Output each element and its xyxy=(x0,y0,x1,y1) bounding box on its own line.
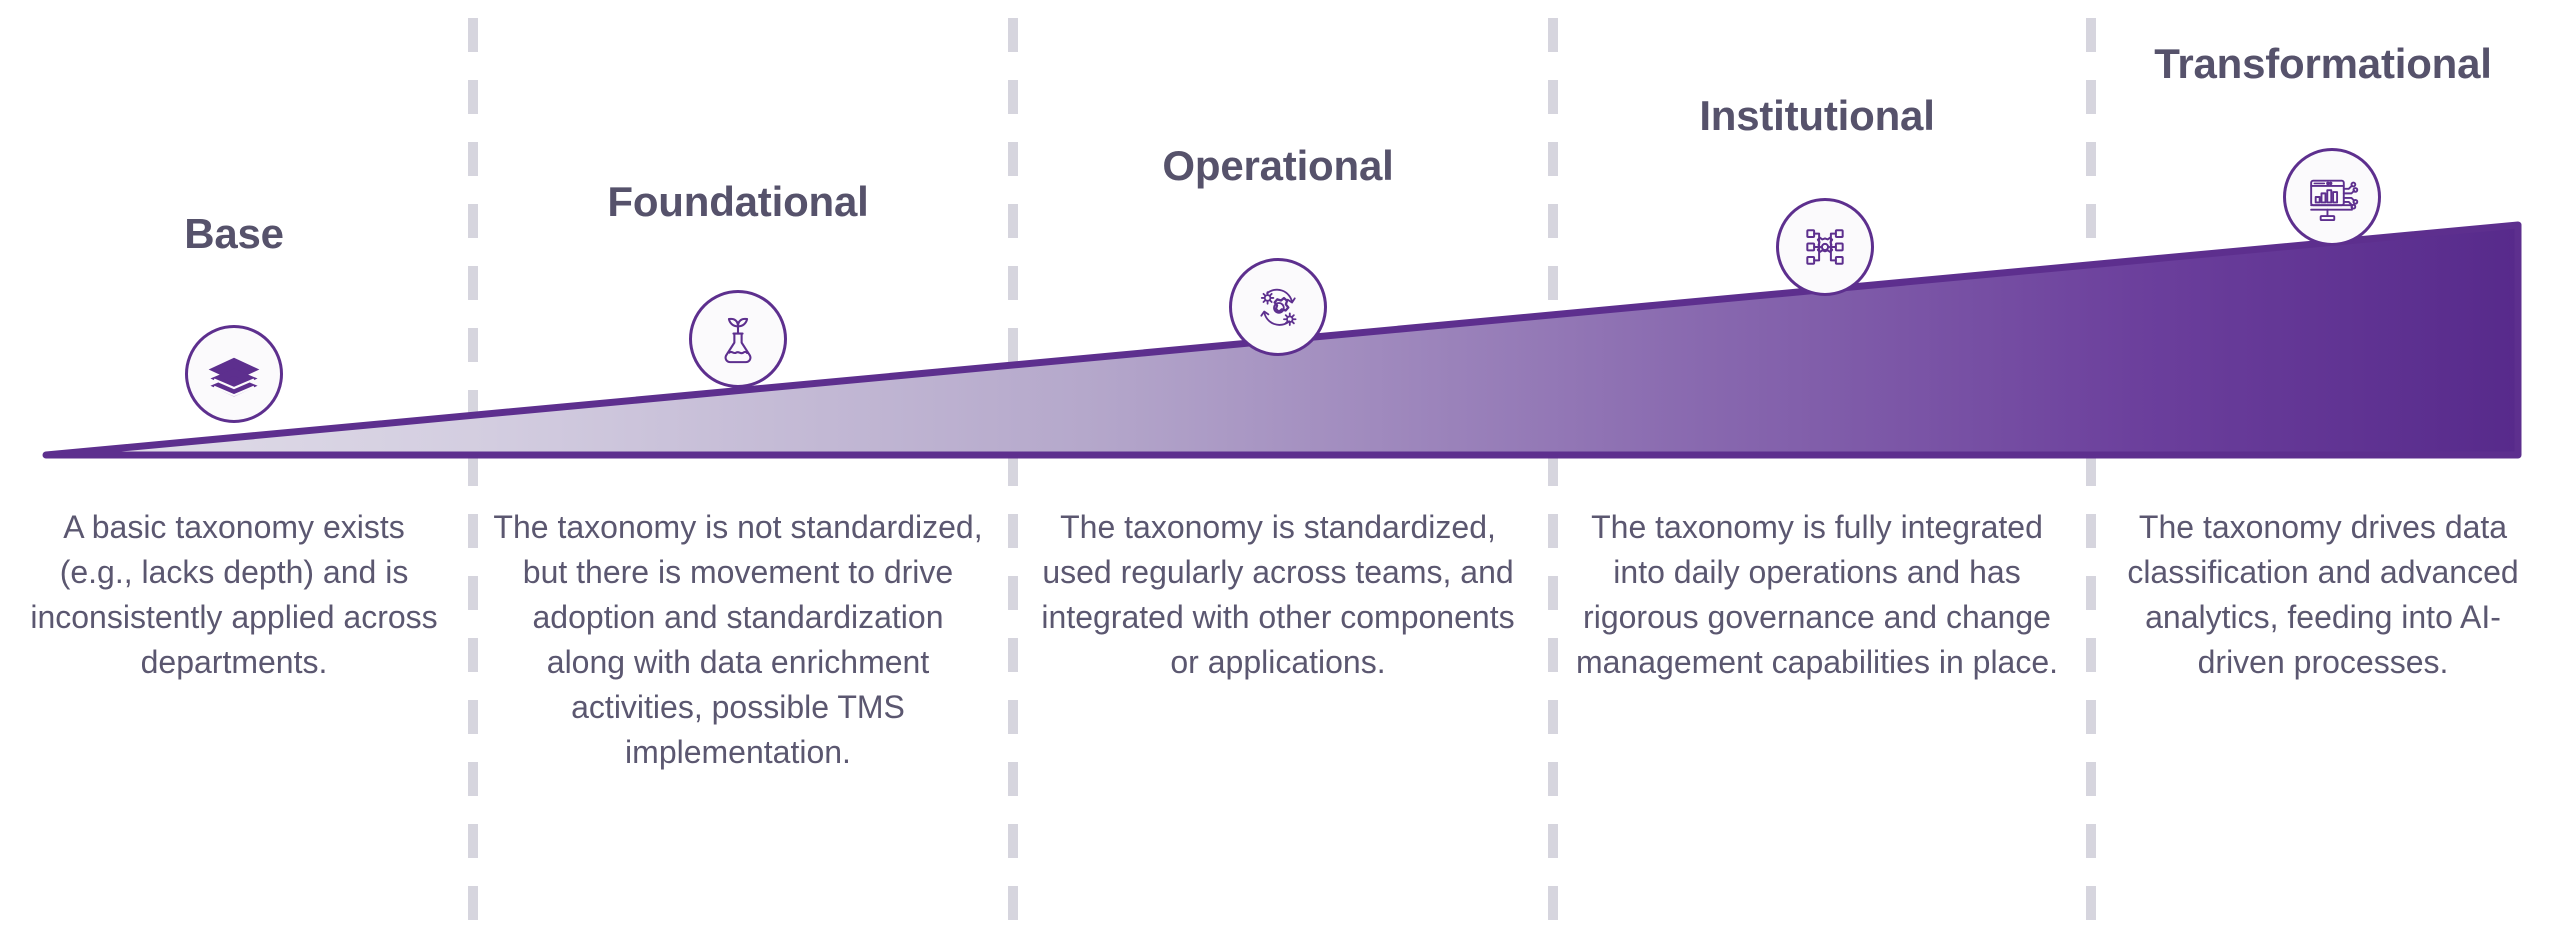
analytics-monitor-ai-icon xyxy=(2283,148,2381,246)
stage-description-institutional: The taxonomy is fully integrated into da… xyxy=(1548,505,2086,685)
stage-title-transformational: Transformational xyxy=(2086,40,2560,88)
stage-description-transformational: The taxonomy drives data classification … xyxy=(2086,505,2560,685)
stage-description-foundational: The taxonomy is not standardized, but th… xyxy=(468,505,1008,775)
stage-column-transformational: Transformational xyxy=(2086,0,2560,928)
stage-title-base: Base xyxy=(0,210,468,258)
stage-column-foundational: Foundational The taxonomy is not standar… xyxy=(468,0,1008,928)
maturity-diagram: Base A basic taxonomy exists (e.g., lack… xyxy=(0,0,2560,928)
stage-title-foundational: Foundational xyxy=(468,178,1008,226)
stage-description-operational: The taxonomy is standardized, used regul… xyxy=(1008,505,1548,685)
stage-column-base: Base A basic taxonomy exists (e.g., lack… xyxy=(0,0,468,928)
stage-column-operational: Operational The taxonomy is standardized… xyxy=(1008,0,1548,928)
network-nodes-gear-icon xyxy=(1776,198,1874,296)
stage-title-institutional: Institutional xyxy=(1548,92,2086,140)
stage-column-institutional: Institutional The t xyxy=(1548,0,2086,928)
stage-description-base: A basic taxonomy exists (e.g., lacks dep… xyxy=(0,505,468,685)
layers-stack-icon xyxy=(185,325,283,423)
gears-cycle-icon xyxy=(1229,258,1327,356)
flask-sprout-icon xyxy=(689,290,787,388)
stage-title-operational: Operational xyxy=(1008,142,1548,190)
